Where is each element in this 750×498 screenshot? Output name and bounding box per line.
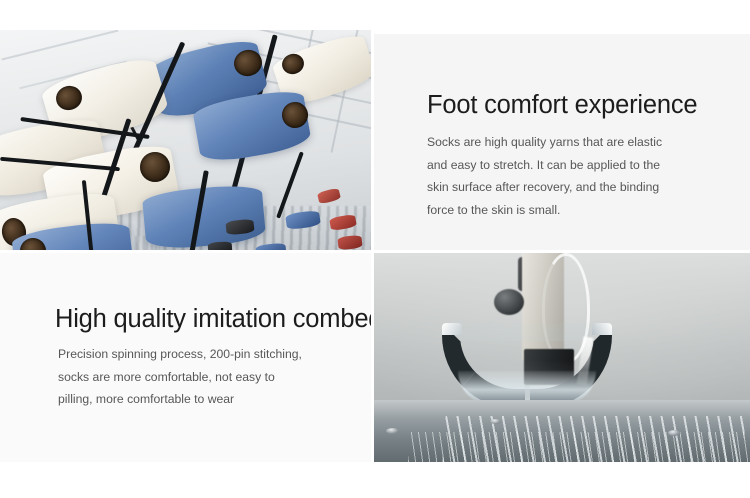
chrome-edge-highlight (442, 323, 462, 335)
body-line: force to the skin is small. (427, 199, 662, 222)
presser-foot-canvas (374, 253, 750, 462)
thread-spool-dark (208, 241, 233, 250)
body-line: Precision spinning process, 200-pin stit… (58, 343, 302, 366)
imitation-combed-heading: High quality imitation combed (55, 305, 371, 334)
needle-plate-hole (386, 428, 399, 434)
chrome-presser-foot (442, 323, 612, 409)
foot-comfort-body: Socks are high quality yarns that are el… (427, 131, 662, 221)
product-feature-collage: Foot comfort experience Socks are high q… (0, 0, 750, 498)
body-line: skin surface after recovery, and the bin… (427, 176, 662, 199)
yarn-photo-canvas (0, 30, 371, 250)
yarn-cone-core (140, 152, 170, 182)
foot-comfort-heading: Foot comfort experience (427, 91, 697, 120)
machine-knob (494, 289, 524, 315)
body-line: socks are more comfortable, not easy to (58, 366, 302, 389)
needle-plate-hole (490, 419, 501, 424)
imitation-combed-text-panel: High quality imitation combed Precision … (0, 253, 371, 462)
needle-plate-hole (668, 430, 680, 436)
thread-spool-red (317, 188, 341, 205)
chrome-edge-highlight (592, 323, 612, 335)
body-line: and easy to stretch. It can be applied t… (427, 154, 662, 177)
needle-plate (374, 400, 750, 462)
sewing-machine-presser-foot-photo (374, 253, 750, 462)
imitation-combed-body: Precision spinning process, 200-pin stit… (58, 343, 302, 411)
body-line: pilling, more comfortable to wear (58, 388, 302, 411)
foot-comfort-text-panel: Foot comfort experience Socks are high q… (374, 34, 750, 250)
ceiling-beam (2, 30, 119, 60)
body-line: Socks are high quality yarns that are el… (427, 131, 662, 154)
yarn-cone-factory-photo (0, 30, 371, 250)
needle-plate-grooves (408, 432, 748, 462)
